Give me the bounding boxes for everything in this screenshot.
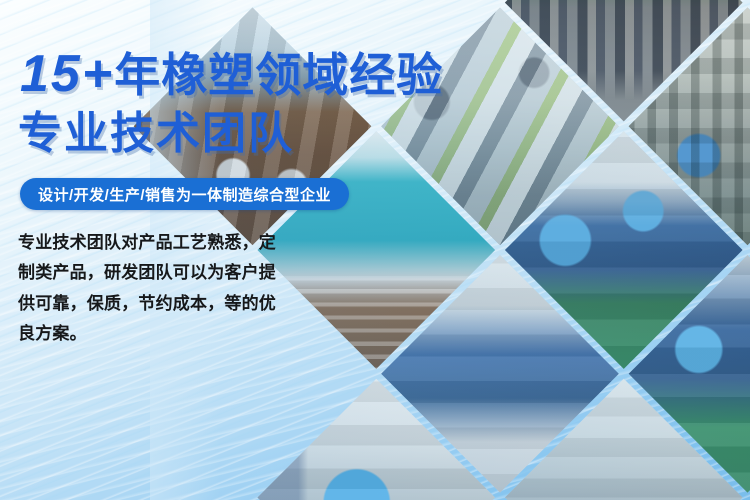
headline-years-number: 15+: [20, 45, 114, 103]
capability-pill: 设计/开发/生产/销售为一体制造综合型企业: [20, 178, 349, 210]
promo-banner: 15+年橡塑领域经验 专业技术团队 设计/开发/生产/销售为一体制造综合型企业 …: [0, 0, 750, 500]
text-block: 15+年橡塑领域经验 专业技术团队 设计/开发/生产/销售为一体制造综合型企业 …: [0, 0, 470, 500]
headline-line-1-rest: 年橡塑领域经验: [114, 49, 443, 101]
headline-line-1: 15+年橡塑领域经验: [20, 48, 443, 100]
headline-line-2: 专业技术团队: [18, 112, 294, 156]
body-paragraph: 专业技术团队对产品工艺熟悉，定制类产品，研发团队可以为客户提供可靠，保质，节约成…: [18, 228, 280, 349]
